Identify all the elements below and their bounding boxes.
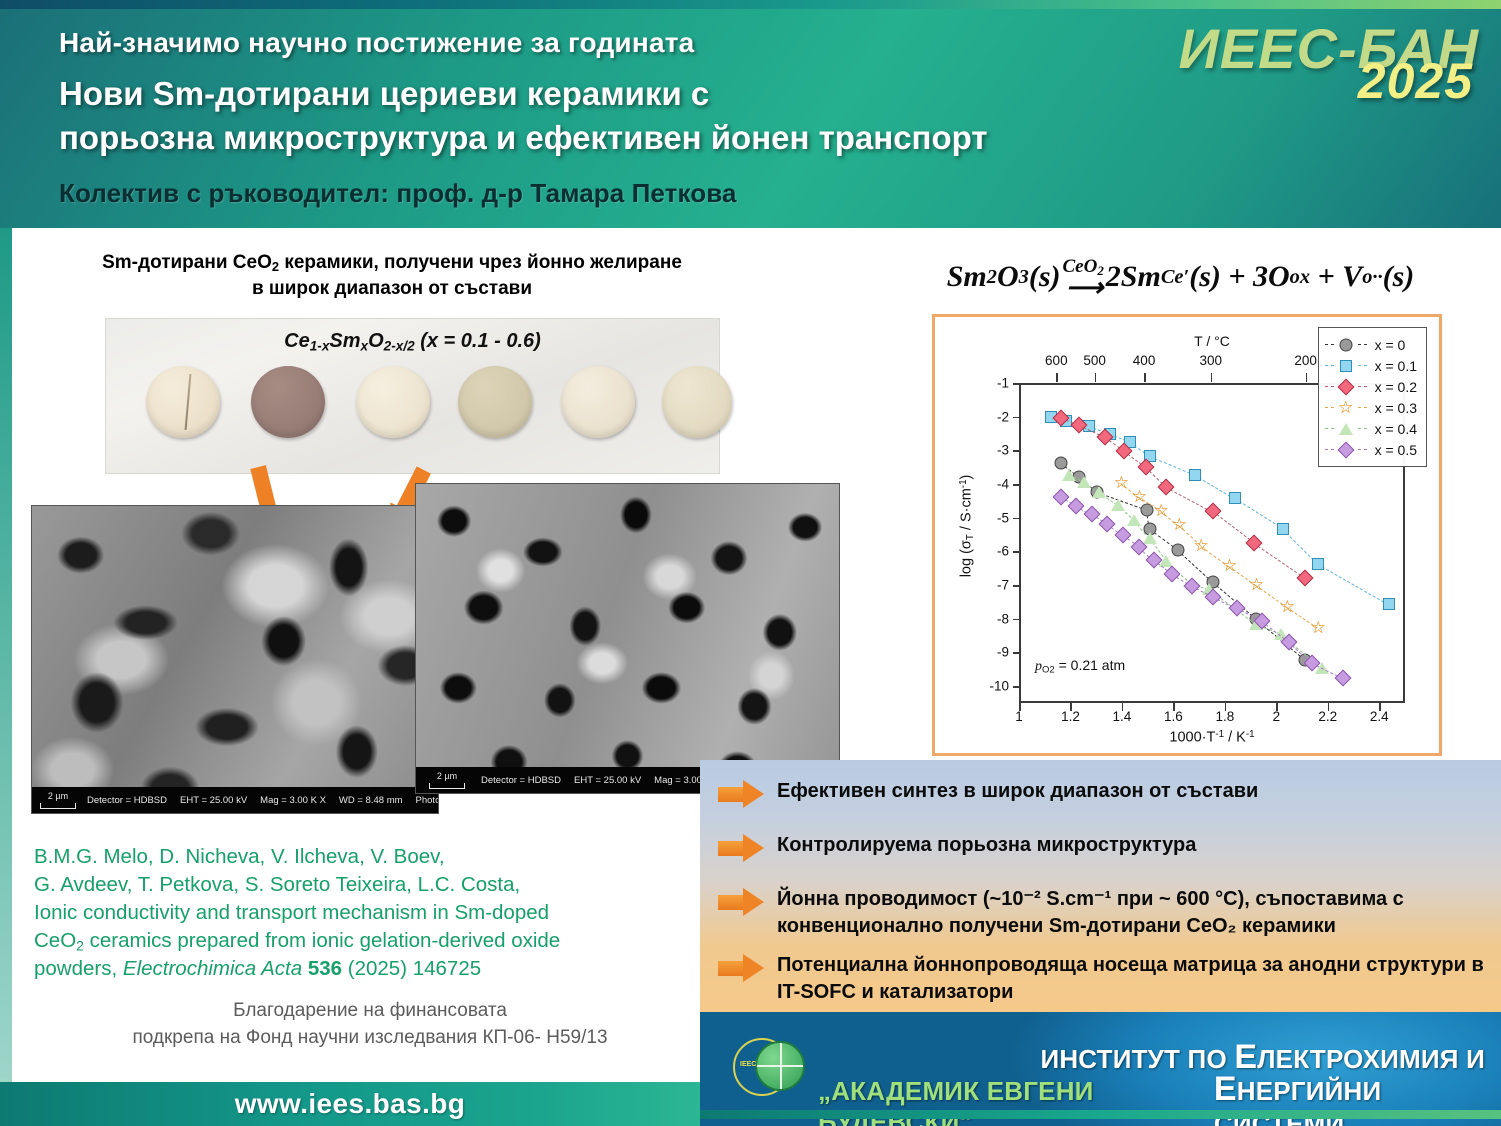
formula-sub-1x: 1-x <box>310 338 330 353</box>
chart-data-point-4 <box>1077 476 1091 488</box>
chart-x-tick-label: 1.2 <box>1061 709 1080 724</box>
chart-x-tick <box>1122 703 1124 711</box>
chart-data-point-0 <box>1054 457 1067 470</box>
chart-data-point-5 <box>1101 518 1113 530</box>
chart-y-axis-title: log (σT / S·cm-1) <box>958 406 976 646</box>
legend-dash-right-icon <box>1358 365 1367 366</box>
chart-series-line <box>1253 543 1305 579</box>
title-line-2: порьозна микроструктура и ефективен йоне… <box>59 116 1149 160</box>
eq-product-1: 2Sm <box>1106 260 1161 294</box>
chart-y-tick-label: -7 <box>981 578 1009 593</box>
legend-dash-left-icon <box>1325 344 1334 345</box>
chart-y-tick-label: -1 <box>981 376 1009 391</box>
chart-data-point-2 <box>1160 481 1172 493</box>
chart-legend: x = 0x = 0.1x = 0.2☆x = 0.3x = 0.4x = 0.… <box>1318 327 1427 467</box>
citation-ceo-sub: 2 <box>76 937 84 953</box>
body-left-accent-bar <box>0 228 12 1082</box>
ieees-logo-year: 2025 <box>1358 52 1473 110</box>
chart-legend-item-4[interactable]: x = 0.4 <box>1325 418 1417 439</box>
key-finding-1: Ефективен синтез в широк диапазон от със… <box>718 778 1488 808</box>
citation-line-4: CeO2 ceramics prepared from ionic gelati… <box>34 927 706 955</box>
legend-marker-icon <box>1338 358 1354 374</box>
formula-o: O <box>368 330 384 352</box>
chart-y-tick <box>1013 450 1021 452</box>
chart-data-point-3: ☆ <box>1131 489 1147 505</box>
sem-left-metadata: Detector = HDBSD EHT = 25.00 kV Mag = 3.… <box>87 795 439 806</box>
legend-marker-icon <box>1338 421 1354 437</box>
website-footer[interactable]: www.iees.bas.bg <box>0 1082 700 1126</box>
chart-y-tick-label: -6 <box>981 544 1009 559</box>
chart-y-tick <box>1013 686 1021 688</box>
chart-data-point-5 <box>1207 591 1219 603</box>
chart-y-tick <box>1013 417 1021 419</box>
chart-legend-item-2[interactable]: x = 0.2 <box>1325 376 1417 397</box>
pellet-sample-5 <box>561 366 635 438</box>
heading-sub: 2 <box>272 259 279 274</box>
chart-y-tick-label: -10 <box>981 679 1009 694</box>
chart-y-tick <box>1013 619 1021 621</box>
citation-line4-rest: ceramics prepared from ionic gelation-de… <box>84 929 560 952</box>
heading-text-b: керамики, получени чрез йонно желиране <box>279 252 682 273</box>
pellet-sample-2 <box>251 366 325 438</box>
institute-big-e-2: Е <box>1214 1070 1237 1108</box>
chart-data-point-3: ☆ <box>1221 558 1237 574</box>
chart-y-tick <box>1013 484 1021 486</box>
institute-line2-rest: НЕРГИЙНИ СИСТЕМИ <box>1214 1076 1382 1126</box>
citation-powders: powders, <box>34 957 123 980</box>
chart-data-point-5 <box>1283 636 1295 648</box>
chart-data-point-2 <box>1299 572 1311 584</box>
legend-dash-left-icon <box>1325 386 1334 387</box>
chart-top-tick <box>1144 373 1146 382</box>
chart-y-tick-label: -5 <box>981 510 1009 525</box>
pellet-sample-1 <box>146 366 220 438</box>
eq-sm: Sm <box>947 260 987 294</box>
eq-state-3: (s) <box>1383 260 1415 294</box>
legend-dash-right-icon <box>1358 428 1367 429</box>
chart-x-tick <box>1225 703 1227 711</box>
chart-y-tick-label: -8 <box>981 611 1009 626</box>
pellet-sample-3 <box>356 366 430 438</box>
sem-right-eht: EHT = 25.00 kV <box>574 775 641 786</box>
key-finding-4: Потенциална йонно­проводяща носеща матри… <box>718 952 1488 1006</box>
chart-data-point-3: ☆ <box>1279 599 1295 615</box>
sem-left-photo-no: Photo No. = 3157 <box>416 795 439 806</box>
left-section-heading: Sm-дотирани CeO2 керамики, получени чрез… <box>62 250 722 302</box>
chart-x-tick-label: 1.4 <box>1113 709 1132 724</box>
chart-top-tick <box>1095 373 1097 382</box>
citation-line-2: G. Avdeev, T. Petkova, S. Soreto Teixeir… <box>34 871 706 899</box>
publication-citation: B.M.G. Melo, D. Nicheva, V. Ilcheva, V. … <box>34 843 706 983</box>
sem-image-left: 2 µm Detector = HDBSD EHT = 25.00 kV Mag… <box>31 505 439 814</box>
chart-legend-item-1[interactable]: x = 0.1 <box>1325 355 1417 376</box>
chart-data-point-3: ☆ <box>1310 620 1326 636</box>
chart-data-point-5 <box>1166 568 1178 580</box>
chart-top-tick-label: 300 <box>1199 353 1222 368</box>
sem-left-scale-line-icon <box>40 803 76 809</box>
sem-right-scale-line-icon <box>429 783 465 789</box>
chart-data-point-0 <box>1171 544 1184 557</box>
logo-abbreviation: IEEC <box>740 1061 756 1068</box>
chart-top-tick <box>1211 373 1213 382</box>
chart-data-point-4 <box>1127 514 1141 526</box>
legend-dash-right-icon <box>1358 344 1367 345</box>
citation-year-pages: (2025) 146725 <box>342 957 481 980</box>
chart-po2-annotation: pO2 = 0.21 atm <box>1035 657 1125 675</box>
chart-data-point-4 <box>1111 499 1125 511</box>
chart-x-tick-label: 1.6 <box>1164 709 1183 724</box>
chart-top-tick <box>1306 373 1308 382</box>
chart-x-tick <box>1276 703 1278 711</box>
chart-x-tick <box>1019 703 1021 711</box>
chart-inner: T / °C ☆☆☆☆☆☆☆☆☆ 1000·T-1 / K-1 log (σT … <box>935 317 1439 753</box>
chart-data-point-1 <box>1229 492 1241 504</box>
chart-data-point-5 <box>1117 529 1129 541</box>
key-finding-text: Йонна проводимост (~10⁻² S.cm⁻¹ при ~ 60… <box>777 886 1488 940</box>
bullet-arrow-icon <box>718 954 764 982</box>
legend-label: x = 0.1 <box>1375 358 1417 374</box>
chart-data-point-5 <box>1148 554 1160 566</box>
chart-legend-item-0[interactable]: x = 0 <box>1325 334 1417 355</box>
legend-label: x = 0.2 <box>1375 379 1417 395</box>
eq-o-sub: 3 <box>1019 266 1029 289</box>
chart-y-tick <box>1013 551 1021 553</box>
pellet-sample-4 <box>458 366 532 438</box>
eq-product-2-sub: o <box>1290 266 1300 289</box>
chart-series-line <box>1234 498 1283 529</box>
citation-line-5: powders, Electrochimica Acta 536 (2025) … <box>34 955 706 983</box>
chart-x-tick-label: 2 <box>1273 709 1281 724</box>
formula-sm: Sm <box>329 330 360 352</box>
chart-top-tick-label: 500 <box>1083 353 1106 368</box>
chart-data-point-3: ☆ <box>1193 538 1209 554</box>
key-finding-text: Контролируема порьозна микроструктура <box>777 832 1196 859</box>
legend-label: x = 0.3 <box>1375 400 1417 416</box>
legend-dash-left-icon <box>1325 407 1334 408</box>
ack-line-1: Благодарение на финансовата <box>34 998 706 1025</box>
eq-state-2: (s) <box>1189 260 1221 294</box>
eq-product-1-sub: Ce <box>1161 266 1184 289</box>
left-heading-line-2: в широк диапазон от състави <box>62 276 722 302</box>
chart-legend-item-3[interactable]: ☆x = 0.3 <box>1325 397 1417 418</box>
eq-product-3: V <box>1342 260 1362 294</box>
legend-dash-left-icon <box>1325 449 1334 450</box>
key-finding-text: Ефективен синтез в широк диапазон от със… <box>777 778 1258 805</box>
chart-data-point-2 <box>1055 412 1067 424</box>
chart-top-tick-label: 400 <box>1133 353 1156 368</box>
legend-marker-icon <box>1338 442 1354 458</box>
conductivity-arrhenius-chart: T / °C ☆☆☆☆☆☆☆☆☆ 1000·T-1 / K-1 log (σT … <box>932 314 1442 756</box>
chart-y-tick <box>1013 518 1021 520</box>
legend-dash-right-icon <box>1358 386 1367 387</box>
chart-data-point-1 <box>1189 469 1201 481</box>
chart-y-tick <box>1013 652 1021 654</box>
chart-y-tick-label: -9 <box>981 645 1009 660</box>
eq-reaction-arrow-icon: CeO2 ⟶ <box>1063 257 1104 301</box>
sem-image-right: 2 µm Detector = HDBSD EHT = 25.00 kV Mag… <box>415 483 840 794</box>
eq-product-2: 3O <box>1253 260 1290 294</box>
citation-volume: 536 <box>308 957 342 980</box>
composition-formula: Ce1-xSmxO2-x/2 (x = 0.1 - 0.6) <box>105 330 720 353</box>
legend-marker-icon <box>1338 379 1354 395</box>
eq-plus-1: + <box>1228 260 1245 294</box>
chart-x-tick-label: 1 <box>1015 709 1023 724</box>
eq-plus-2: + <box>1318 260 1335 294</box>
legend-label: x = 0.5 <box>1375 442 1417 458</box>
key-finding-3: Йонна проводимост (~10⁻² S.cm⁻¹ при ~ 60… <box>718 886 1488 940</box>
chart-y-tick-label: -4 <box>981 477 1009 492</box>
formula-sub-x: x <box>361 338 369 353</box>
chart-data-point-5 <box>1186 580 1198 592</box>
chart-data-point-3: ☆ <box>1171 517 1187 533</box>
website-url[interactable]: www.iees.bas.bg <box>235 1088 466 1120</box>
heading-text-a: Sm-дотирани CeO <box>102 252 272 273</box>
citation-line-1: B.M.G. Melo, D. Nicheva, V. Ilcheva, V. … <box>34 843 706 871</box>
chart-legend-item-5[interactable]: x = 0.5 <box>1325 439 1417 460</box>
chart-data-point-4 <box>1092 486 1106 498</box>
chart-x-tick <box>1328 703 1330 711</box>
chart-data-point-3: ☆ <box>1153 503 1169 519</box>
chart-data-point-3: ☆ <box>1248 577 1264 593</box>
eq-product-2-sup: x <box>1300 266 1310 289</box>
chart-data-point-5 <box>1070 500 1082 512</box>
pellet-sample-6 <box>662 366 732 438</box>
sem-left-eht: EHT = 25.00 kV <box>180 795 247 806</box>
institute-name-line-2: „АКАДЕМИК ЕВГЕНИ БУДЕВСКИ" ЕНЕРГИЙНИ СИС… <box>818 1070 1485 1126</box>
funding-acknowledgment: Благодарение на финансовата подкрепа на … <box>34 998 706 1051</box>
chart-top-tick-label: 600 <box>1045 353 1068 368</box>
sem-left-mag: Mag = 3.00 K X <box>260 795 326 806</box>
citation-journal: Electrochimica Acta <box>123 957 302 980</box>
chart-data-point-5 <box>1086 508 1098 520</box>
sem-left-scalebar: 2 µm <box>40 792 76 809</box>
chart-data-point-1 <box>1383 598 1395 610</box>
legend-dash-left-icon <box>1325 428 1334 429</box>
sem-left-scale-label: 2 µm <box>48 792 68 801</box>
chart-data-point-5 <box>1256 615 1268 627</box>
header-top-stripe <box>0 0 1501 9</box>
chart-x-tick <box>1173 703 1175 711</box>
chart-data-point-2 <box>1073 419 1085 431</box>
bullet-arrow-icon <box>718 888 764 916</box>
chart-y-tick <box>1013 585 1021 587</box>
key-finding-2: Контролируема порьозна микроструктура <box>718 832 1488 862</box>
chart-data-point-2 <box>1248 537 1260 549</box>
chart-x-tick-label: 2.2 <box>1318 709 1337 724</box>
institute-eponym: „АКАДЕМИК ЕВГЕНИ БУДЕВСКИ" <box>818 1076 1206 1126</box>
citation-ceo: CeO <box>34 929 76 952</box>
sem-left-detector: Detector = HDBSD <box>87 795 167 806</box>
key-finding-text: Потенциална йонно­проводяща носеща матри… <box>777 952 1488 1006</box>
chart-series-line <box>1318 564 1389 605</box>
sem-left-micrograph <box>32 506 438 813</box>
legend-dash-right-icon <box>1358 407 1367 408</box>
chart-data-point-2 <box>1099 431 1111 443</box>
sem-right-scalebar: 2 µm <box>424 772 470 789</box>
citation-line-3: Ionic conductivity and transport mechani… <box>34 899 706 927</box>
chart-top-tick <box>1056 373 1058 382</box>
kroger-vink-equation: Sm2O3(s) CeO2 ⟶ 2SmCe′(s) + 3Oox + Vo··(… <box>868 246 1493 308</box>
legend-dash-left-icon <box>1325 365 1334 366</box>
eq-state-1: (s) <box>1029 260 1061 294</box>
chart-x-tick-label: 1.8 <box>1215 709 1234 724</box>
key-findings-panel: Ефективен синтез в широк диапазон от със… <box>700 760 1501 1012</box>
chart-data-point-1 <box>1312 558 1324 570</box>
legend-label: x = 0 <box>1375 337 1406 353</box>
sem-left-wd: WD = 8.48 mm <box>339 795 403 806</box>
chart-data-point-5 <box>1133 541 1145 553</box>
chart-top-tick-label: 200 <box>1294 353 1317 368</box>
legend-dash-right-icon <box>1358 449 1367 450</box>
institute-banner: IEEC ИНСТИТУТ ПО ЕЛЕКТРОХИМИЯ И „АКАДЕМИ… <box>700 1012 1501 1126</box>
ack-line-2: подкрепа на Фонд научни изследвания КП-0… <box>34 1025 706 1052</box>
bullet-arrow-icon <box>718 834 764 862</box>
chart-data-point-4 <box>1062 469 1076 481</box>
chart-data-point-5 <box>1231 602 1243 614</box>
chart-data-point-2 <box>1207 505 1219 517</box>
institute-logo-icon: IEEC <box>733 1034 809 1100</box>
page-title: Нови Sm-дотирани цериеви керамики с порь… <box>59 72 1149 160</box>
eq-product-3-sup: ·· <box>1372 266 1382 289</box>
legend-marker-icon: ☆ <box>1338 400 1354 416</box>
chart-x-tick <box>1070 703 1072 711</box>
poster-root: Най-значимо научно постижение за годинат… <box>0 0 1501 1126</box>
formula-range: (x = 0.1 - 0.6) <box>415 330 541 352</box>
chart-data-point-5 <box>1337 672 1349 684</box>
sem-right-micrograph <box>416 484 839 793</box>
formula-sub-2x2: 2-x/2 <box>384 338 415 353</box>
left-heading-line-1: Sm-дотирани CeO2 керамики, получени чрез… <box>62 250 722 276</box>
team-lead: Колектив с ръководител: проф. д-р Тамара… <box>59 178 737 209</box>
chart-data-point-2 <box>1140 461 1152 473</box>
eq-o: O <box>997 260 1019 294</box>
title-line-1: Нови Sm-дотирани цериеви керамики с <box>59 72 1149 116</box>
chart-x-tick-label: 2.4 <box>1370 709 1389 724</box>
chart-data-point-3: ☆ <box>1113 475 1129 491</box>
chart-x-tick <box>1379 703 1381 711</box>
chart-data-point-5 <box>1055 491 1067 503</box>
sem-right-scale-label: 2 µm <box>437 772 457 781</box>
eq-product-3-sub: o <box>1362 266 1372 289</box>
globe-icon <box>755 1041 805 1091</box>
eq-sm-sub: 2 <box>987 266 997 289</box>
poster-header: Най-значимо научно постижение за годинат… <box>0 0 1501 228</box>
formula-ce: Ce <box>284 330 310 352</box>
legend-label: x = 0.4 <box>1375 421 1417 437</box>
sem-left-infobar: 2 µm Detector = HDBSD EHT = 25.00 kV Mag… <box>32 787 438 813</box>
chart-data-point-1 <box>1277 523 1289 535</box>
sem-right-detector: Detector = HDBSD <box>481 775 561 786</box>
chart-y-tick-label: -2 <box>981 409 1009 424</box>
chart-y-tick <box>1013 383 1021 385</box>
legend-marker-icon <box>1338 337 1354 353</box>
chart-data-point-5 <box>1306 657 1318 669</box>
bullet-arrow-icon <box>718 780 764 808</box>
header-eyebrow: Най-значимо научно постижение за годинат… <box>59 27 694 59</box>
chart-data-point-2 <box>1118 445 1130 457</box>
chart-x-axis-title: 1000·T-1 / K-1 <box>1019 729 1405 745</box>
chart-y-tick-label: -3 <box>981 443 1009 458</box>
